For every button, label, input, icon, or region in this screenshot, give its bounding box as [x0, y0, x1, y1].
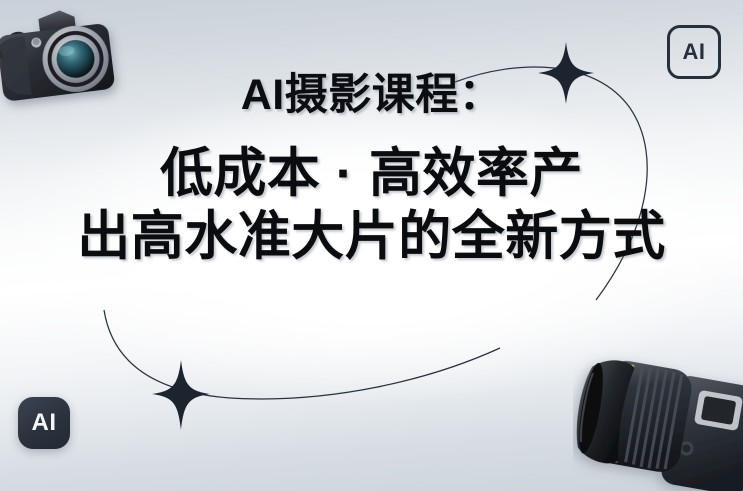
- poster-canvas: AI摄影课程： 低成本 · 高效率产 出高水准大片的全新方式 AI AI: [0, 0, 743, 491]
- ai-badge-bottom-left-label: AI: [32, 411, 57, 435]
- camera-bottom-right-icon: [573, 344, 743, 491]
- subtitle-line-2: 出高水准大片的全新方式: [0, 206, 743, 269]
- ai-badge-top-right-label: AI: [683, 41, 706, 63]
- ai-badge-top-right: AI: [667, 25, 721, 79]
- ai-badge-bottom-left: AI: [18, 397, 70, 449]
- page-title: AI摄影课程：: [0, 72, 743, 119]
- headline-block: AI摄影课程： 低成本 · 高效率产 出高水准大片的全新方式: [0, 72, 743, 268]
- sparkle-bottom-icon: [152, 360, 210, 430]
- subtitle-block: 低成本 · 高效率产 出高水准大片的全新方式: [0, 143, 743, 268]
- swoosh-bottom-icon: [104, 310, 500, 399]
- subtitle-line-1: 低成本 · 高效率产: [0, 143, 743, 206]
